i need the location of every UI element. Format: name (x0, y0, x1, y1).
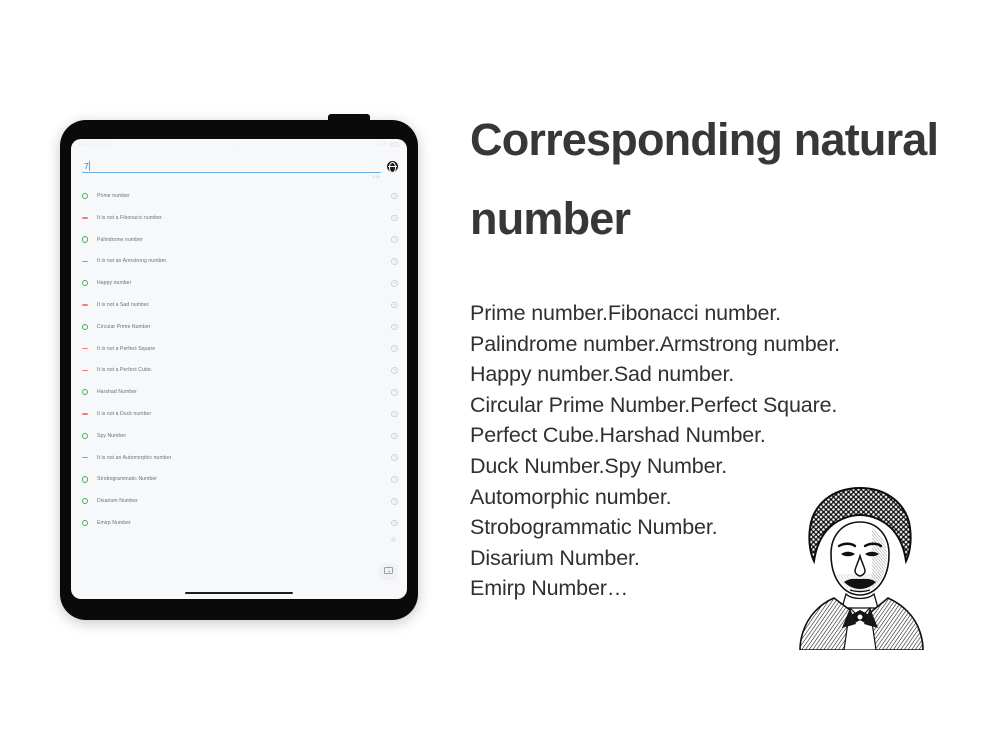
marker-negative (82, 348, 88, 349)
result-row[interactable]: Prime number? (71, 185, 407, 207)
question-circle-icon[interactable]: ? (391, 258, 398, 265)
result-label: Spy Number (97, 433, 391, 439)
result-label: Palindrome number (97, 237, 391, 243)
result-label: Circular Prime Number (97, 324, 391, 330)
tablet-screen: 9:41 Thu 12 Oct ••• Wi-Fi 7 1/18 Prime n (71, 139, 407, 599)
status-bar-indicators: Wi-Fi (377, 142, 400, 147)
status-bar-time: 9:41 Thu 12 Oct (79, 142, 114, 147)
question-circle-icon[interactable]: ? (391, 367, 398, 374)
result-label: It is not a Perfect Square (97, 346, 391, 352)
dash-icon (82, 217, 97, 218)
result-row[interactable]: It is not an Automorphic number? (71, 447, 407, 469)
marker-positive (82, 476, 88, 482)
marker-negative (82, 217, 88, 218)
marker-negative (82, 457, 88, 458)
number-input-value-line: 7 (82, 159, 381, 172)
screenshot-icon[interactable] (380, 563, 397, 578)
question-circle-icon[interactable]: ? (391, 236, 398, 243)
screenshot-glyph (384, 567, 393, 574)
result-row[interactable]: It is not a Sad number.? (71, 294, 407, 316)
result-label: It is not an Automorphic number (97, 455, 391, 461)
question-circle-icon[interactable]: ? (391, 302, 398, 309)
status-bar-center-dots: ••• (235, 142, 243, 148)
result-label: Harshad Number (97, 389, 391, 395)
check-circle-icon (82, 498, 97, 504)
number-input-value: 7 (84, 161, 89, 171)
question-circle-icon[interactable]: ? (391, 280, 398, 287)
marker-negative (82, 370, 88, 371)
result-label: Happy number (97, 280, 391, 286)
result-label: It is not a Sad number. (97, 302, 391, 308)
marker-negative (82, 304, 88, 305)
description-line: Happy number.Sad number. (470, 359, 950, 390)
check-circle-icon (82, 433, 97, 439)
result-row[interactable]: It is not a Perfect Square? (71, 338, 407, 360)
question-circle-icon[interactable]: ? (391, 454, 398, 461)
check-circle-icon (82, 280, 97, 286)
description-line: Palindrome number.Armstrong number. (470, 329, 950, 360)
result-label: Strobogrammatic Number (97, 476, 391, 482)
status-bar: 9:41 Thu 12 Oct ••• Wi-Fi (71, 139, 407, 150)
number-input-field[interactable]: 7 1/18 (82, 159, 381, 179)
check-circle-icon (82, 236, 97, 242)
dash-icon (82, 457, 97, 458)
check-circle-icon (82, 520, 97, 526)
result-row[interactable]: It is not a Duck number? (71, 403, 407, 425)
engraved-portrait (776, 482, 944, 650)
battery-icon (390, 142, 399, 147)
scroll-end-dot (391, 537, 396, 542)
dash-icon (82, 413, 97, 414)
result-row[interactable]: It is not a Perfect Cube.? (71, 360, 407, 382)
question-circle-icon[interactable]: ? (391, 498, 398, 505)
question-circle-icon[interactable]: ? (391, 433, 398, 440)
dash-icon (82, 261, 97, 262)
check-circle-icon (82, 193, 97, 199)
result-row[interactable]: Harshad Number? (71, 381, 407, 403)
marker-positive (82, 389, 88, 395)
question-circle-icon[interactable]: ? (391, 215, 398, 222)
marker-positive (82, 280, 88, 286)
result-label: Prime number (97, 193, 391, 199)
question-circle-icon[interactable]: ? (391, 389, 398, 396)
result-label: It is not a Duck number (97, 411, 391, 417)
result-label: It is not a Perfect Cube. (97, 367, 391, 373)
check-circle-icon (82, 324, 97, 330)
result-row[interactable]: It is not an Armstrong number.? (71, 251, 407, 273)
description-line: Prime number.Fibonacci number. (470, 298, 950, 329)
marker-negative (82, 261, 88, 262)
result-row[interactable]: It is not a Fibonacci number.? (71, 207, 407, 229)
globe-icon[interactable] (387, 161, 398, 172)
result-label: It is not an Armstrong number. (97, 258, 391, 264)
description-line: Circular Prime Number.Perfect Square. (470, 390, 950, 421)
result-label: Disarium Number (97, 498, 391, 504)
marker-positive (82, 324, 88, 330)
check-circle-icon (82, 389, 97, 395)
status-bar-wifi-label: Wi-Fi (377, 142, 389, 147)
dash-icon (82, 304, 97, 305)
question-circle-icon[interactable]: ? (391, 324, 398, 331)
result-row[interactable]: Palindrome number? (71, 229, 407, 251)
tablet-bottom-area (71, 561, 407, 599)
result-row[interactable]: Strobogrammatic Number? (71, 469, 407, 491)
question-circle-icon[interactable]: ? (391, 520, 398, 527)
description-line: Perfect Cube.Harshad Number. (470, 420, 950, 451)
dash-icon (82, 370, 97, 371)
question-circle-icon[interactable]: ? (391, 411, 398, 418)
result-row[interactable]: Emirp Number? (71, 512, 407, 534)
marker-positive (82, 498, 88, 504)
marker-positive (82, 236, 88, 242)
tablet-device-mockup: 9:41 Thu 12 Oct ••• Wi-Fi 7 1/18 Prime n (60, 120, 418, 620)
marker-positive (82, 433, 88, 439)
result-row[interactable]: Spy Number? (71, 425, 407, 447)
question-circle-icon[interactable]: ? (391, 476, 398, 483)
results-list: Prime number?It is not a Fibonacci numbe… (71, 179, 407, 561)
result-row[interactable]: Circular Prime Number? (71, 316, 407, 338)
home-indicator[interactable] (185, 592, 293, 594)
result-label: Emirp Number (97, 520, 391, 526)
result-label: It is not a Fibonacci number. (97, 215, 391, 221)
query-row: 7 1/18 (71, 150, 407, 179)
marker-positive (82, 193, 88, 199)
question-circle-icon[interactable]: ? (391, 345, 398, 352)
marker-positive (82, 520, 88, 526)
check-circle-icon (82, 476, 97, 482)
marker-negative (82, 413, 88, 414)
text-caret (89, 161, 90, 171)
result-row[interactable]: Happy number? (71, 272, 407, 294)
description-line: Duck Number.Spy Number. (470, 451, 950, 482)
question-circle-icon[interactable]: ? (391, 193, 398, 200)
dash-icon (82, 348, 97, 349)
result-row[interactable]: Disarium Number? (71, 490, 407, 512)
page-title: Corresponding natural number (470, 100, 950, 258)
